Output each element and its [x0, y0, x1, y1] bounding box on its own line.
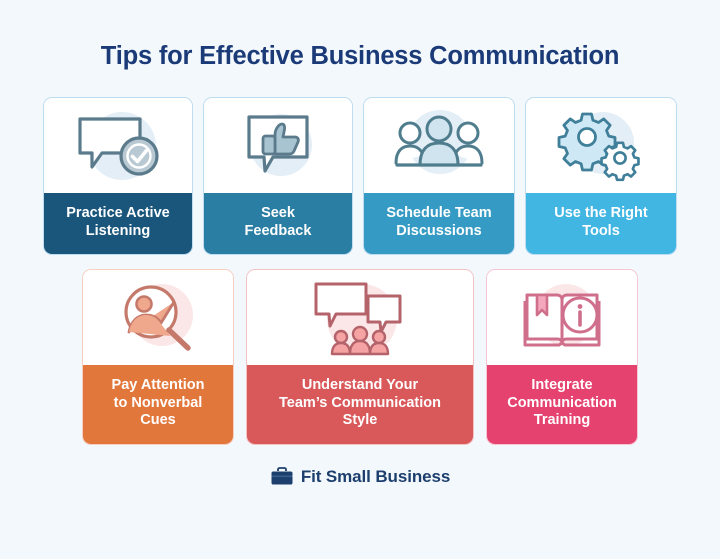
label-line-1: Use the Right: [554, 205, 647, 221]
gears-icon: [556, 110, 646, 182]
label-line-1: Schedule Team: [386, 205, 491, 221]
label-line-3: Style: [343, 412, 378, 428]
brand-name: Fit Small Business: [301, 467, 450, 487]
icon-area: [526, 98, 676, 193]
label-line-2: Discussions: [396, 223, 481, 239]
icon-area: [44, 98, 192, 193]
card-practice-active-listening[interactable]: Practice Active Listening: [43, 97, 193, 255]
card-label: Schedule Team Discussions: [364, 193, 514, 254]
book-info-icon: [517, 281, 607, 355]
label-line-2: Communication: [507, 395, 617, 411]
cards-row-2: Pay Attention to Nonverbal Cues: [82, 269, 638, 445]
card-label: Use the Right Tools: [526, 193, 676, 254]
infographic-root: Tips for Effective Business Communicatio…: [0, 0, 720, 559]
team-meeting-icon: [389, 113, 489, 179]
label-line-2: Listening: [86, 223, 150, 239]
card-integrate-communication-training[interactable]: Integrate Communication Training: [486, 269, 638, 445]
card-label: Understand Your Team’s Communication Sty…: [247, 365, 473, 444]
card-label: Pay Attention to Nonverbal Cues: [83, 365, 233, 444]
label-line-2: to Nonverbal: [114, 395, 203, 411]
label-line-3: Cues: [140, 412, 175, 428]
label-line-1: Practice Active: [66, 205, 169, 221]
card-seek-feedback[interactable]: Seek Feedback: [203, 97, 353, 255]
card-schedule-team-discussions[interactable]: Schedule Team Discussions: [363, 97, 515, 255]
thumbs-up-bubble-icon: [239, 111, 317, 181]
page-title: Tips for Effective Business Communicatio…: [101, 42, 619, 70]
speech-bubbles-audience-icon: [308, 278, 412, 358]
magnifier-person-icon: [114, 280, 202, 356]
card-label: Practice Active Listening: [44, 193, 192, 254]
card-label: Seek Feedback: [204, 193, 352, 254]
card-label: Integrate Communication Training: [487, 365, 637, 444]
card-pay-attention-to-nonverbal-cues[interactable]: Pay Attention to Nonverbal Cues: [82, 269, 234, 445]
label-line-1: Pay Attention: [112, 377, 205, 393]
cards-row-1: Practice Active Listening Seek Feedback: [43, 97, 677, 255]
label-line-2: Feedback: [245, 223, 312, 239]
icon-area: [83, 270, 233, 365]
icon-area: [487, 270, 637, 365]
card-use-the-right-tools[interactable]: Use the Right Tools: [525, 97, 677, 255]
label-line-1: Understand Your: [302, 377, 418, 393]
icon-area: [364, 98, 514, 193]
label-line-1: Seek: [261, 205, 295, 221]
label-line-1: Integrate: [531, 377, 592, 393]
icon-area: [204, 98, 352, 193]
briefcase-icon: [270, 467, 294, 487]
label-line-2: Tools: [582, 223, 620, 239]
footer-brand: Fit Small Business: [270, 467, 450, 487]
label-line-2: Team’s Communication: [279, 395, 441, 411]
label-line-3: Training: [534, 412, 590, 428]
speech-bubble-check-icon: [72, 111, 164, 181]
icon-area: [247, 270, 473, 365]
card-understand-your-teams-communication-style[interactable]: Understand Your Team’s Communication Sty…: [246, 269, 474, 445]
